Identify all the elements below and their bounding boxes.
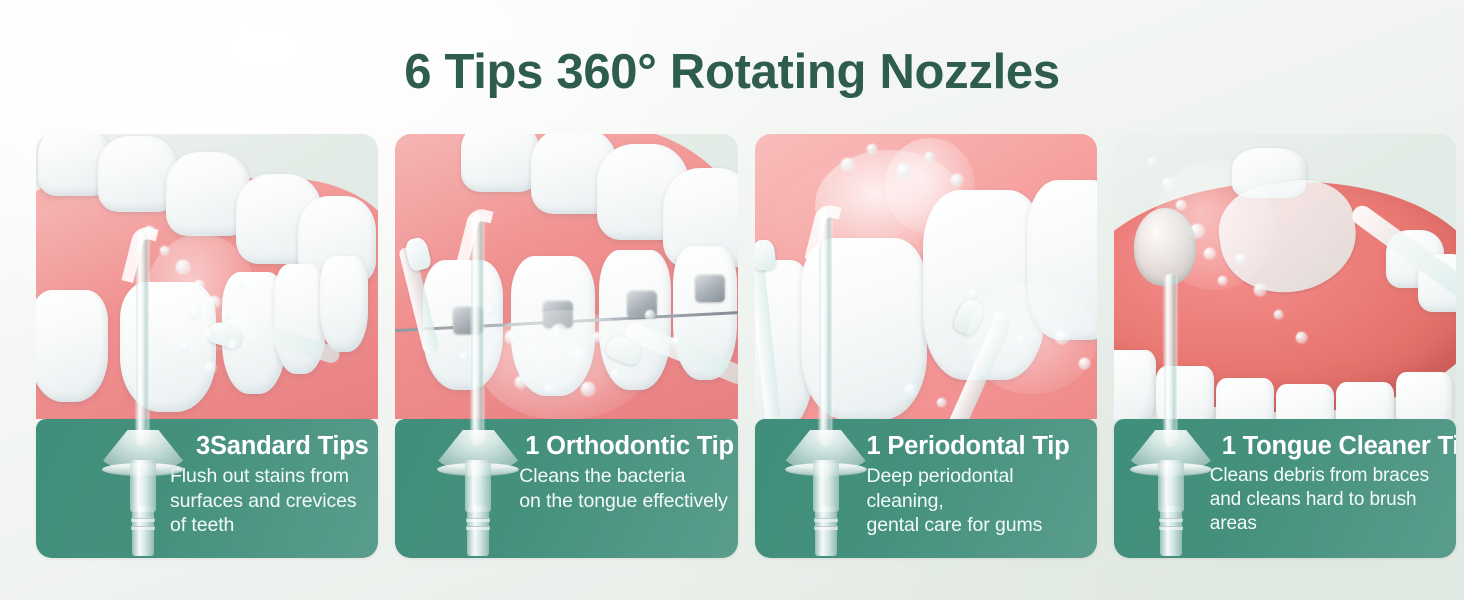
water-splash <box>967 284 1097 394</box>
tip-caption-panel: 1 Tongue Cleaner Tip Cleans debris from … <box>1114 419 1456 558</box>
page-title: 6 Tips 360° Rotating Nozzles <box>0 44 1464 100</box>
tip-photo <box>755 134 1097 419</box>
water-droplet <box>1274 310 1283 319</box>
water-droplet <box>867 144 877 154</box>
scene-braces-cleaning <box>395 134 737 419</box>
tip-caption-panel: 1 Orthodontic Tip Cleans the bacteria on… <box>395 419 737 558</box>
water-droplet <box>951 174 963 186</box>
tip-title: 3Sandard Tips <box>158 431 372 461</box>
orthodontic-bracket <box>453 306 483 334</box>
tip-caption-text: 3Sandard Tips Flush out stains from surf… <box>158 431 372 538</box>
tooth <box>1396 372 1452 419</box>
tooth <box>1276 384 1334 419</box>
orthodontic-bracket <box>695 274 725 302</box>
tip-description: Cleans the bacteria on the tongue effect… <box>519 464 731 513</box>
tip-description: Deep periodontal cleaning, gental care f… <box>867 464 1091 538</box>
tooth <box>320 256 368 352</box>
water-splash <box>146 234 256 354</box>
tip-photo <box>395 134 737 419</box>
water-droplet <box>1254 284 1266 296</box>
water-droplet <box>905 384 917 396</box>
tip-title: 1 Orthodontic Tip <box>519 431 731 461</box>
tip-card[interactable]: 1 Periodontal Tip Deep periodontal clean… <box>755 134 1097 558</box>
water-droplet <box>925 152 934 161</box>
water-splash <box>1154 160 1274 290</box>
water-droplet <box>937 398 946 407</box>
water-droplet <box>969 288 980 299</box>
water-splash <box>479 310 649 419</box>
tooth <box>1156 366 1214 419</box>
tip-title: 1 Periodontal Tip <box>867 431 1091 461</box>
tip-photo <box>36 134 378 419</box>
tip-caption-text: 1 Tongue Cleaner Tip Cleans debris from … <box>1210 431 1450 536</box>
water-droplet <box>1296 332 1307 343</box>
tip-caption-panel: 3Sandard Tips Flush out stains from surf… <box>36 419 378 558</box>
water-droplet <box>841 158 854 171</box>
tip-card[interactable]: 1 Orthodontic Tip Cleans the bacteria on… <box>395 134 737 558</box>
tip-card-list: 3Sandard Tips Flush out stains from surf… <box>36 134 1456 558</box>
water-droplet <box>144 226 155 237</box>
tip-photo <box>1114 134 1456 419</box>
water-droplet <box>204 362 216 374</box>
scene-tooth-surface-cleaning <box>36 134 378 419</box>
tip-caption-text: 1 Orthodontic Tip Cleans the bacteria on… <box>519 431 731 513</box>
tip-title: 1 Tongue Cleaner Tip <box>1210 431 1450 461</box>
tooth <box>1114 350 1156 419</box>
tip-card[interactable]: 1 Tongue Cleaner Tip Cleans debris from … <box>1114 134 1456 558</box>
tip-description: Cleans debris from braces and cleans har… <box>1210 464 1450 536</box>
water-droplet <box>897 164 911 178</box>
tooth <box>1216 378 1274 419</box>
tip-description: Flush out stains from surfaces and crevi… <box>158 464 372 538</box>
tip-card[interactable]: 3Sandard Tips Flush out stains from surf… <box>36 134 378 558</box>
tooth <box>461 134 539 192</box>
tip-caption-text: 1 Periodontal Tip Deep periodontal clean… <box>867 431 1091 538</box>
scene-periodontal-cleaning <box>755 134 1097 419</box>
tooth <box>1336 382 1394 419</box>
scene-tongue-cleaning <box>1114 134 1456 419</box>
water-droplet <box>1148 158 1157 167</box>
tooth <box>36 290 108 402</box>
infographic-page: 6 Tips 360° Rotating Nozzles <box>0 0 1464 600</box>
tip-caption-panel: 1 Periodontal Tip Deep periodontal clean… <box>755 419 1097 558</box>
